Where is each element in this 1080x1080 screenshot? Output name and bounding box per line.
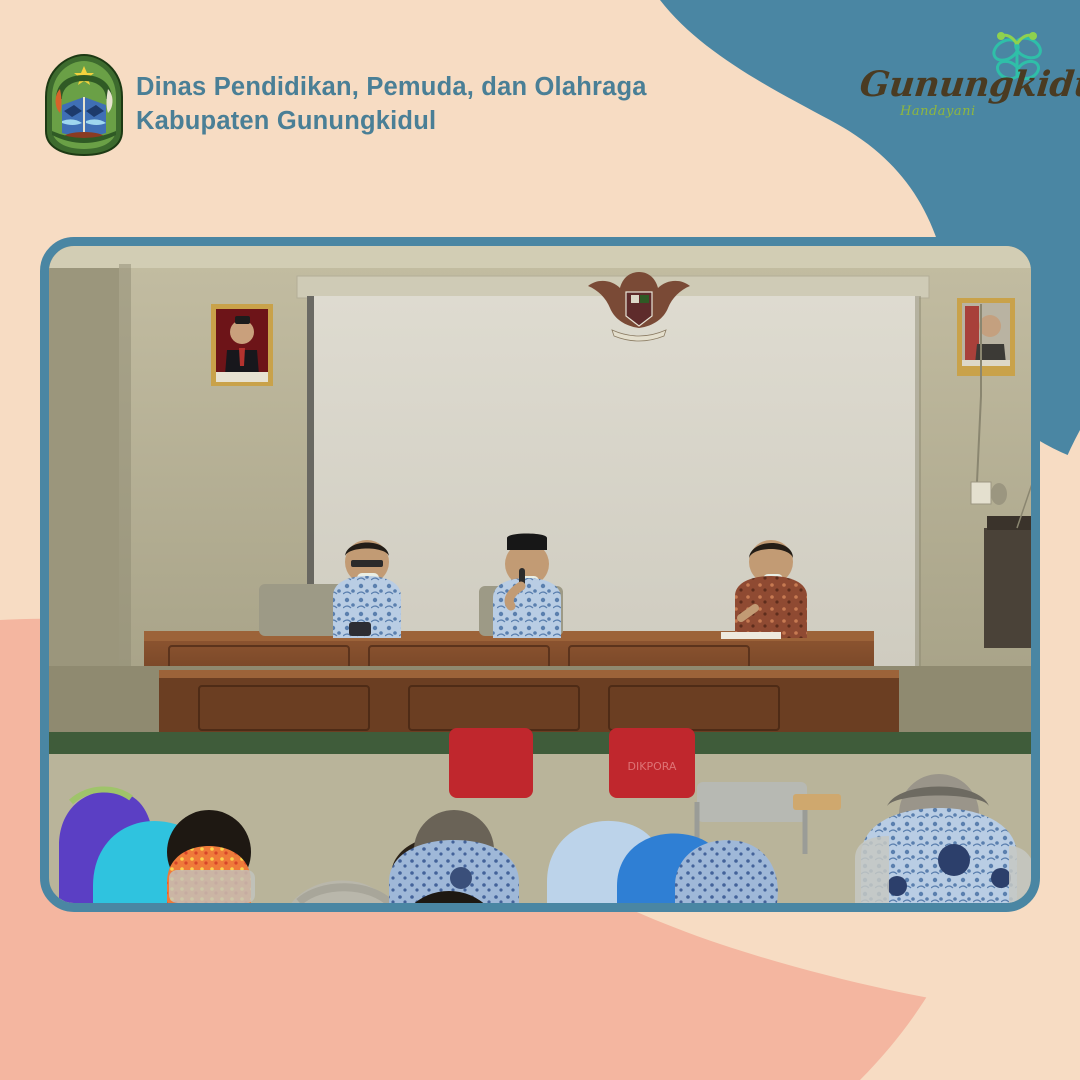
- rear-wood-panel: [159, 670, 899, 736]
- svg-text:DIKPORA: DIKPORA: [628, 760, 677, 773]
- president-portrait: [211, 304, 273, 386]
- title-line-1: Dinas Pendidikan, Pemuda, dan Olahraga: [136, 70, 647, 104]
- gunungkidul-brand-logo: Gunungkidul Handayani: [852, 24, 1062, 134]
- page-title: Dinas Pendidikan, Pemuda, dan Olahraga K…: [136, 70, 647, 138]
- title-line-2: Kabupaten Gunungkidul: [136, 104, 647, 138]
- poster-canvas: Dinas Pendidikan, Pemuda, dan Olahraga K…: [0, 0, 1080, 1080]
- brand-wordmark: Gunungkidul: [858, 64, 1080, 105]
- vice-president-portrait: [957, 298, 1015, 376]
- audience: [59, 774, 1031, 903]
- event-photo: DIKPORA: [40, 237, 1040, 912]
- poster-footer: @dikpora_gk pendidikan.gunungkidulkab.go…: [0, 930, 1080, 1080]
- brand-tagline: Handayani: [900, 104, 976, 119]
- poster-header: Dinas Pendidikan, Pemuda, dan Olahraga K…: [0, 0, 1080, 225]
- regency-crest-icon: [42, 53, 126, 157]
- event-photo-image: DIKPORA: [49, 246, 1031, 903]
